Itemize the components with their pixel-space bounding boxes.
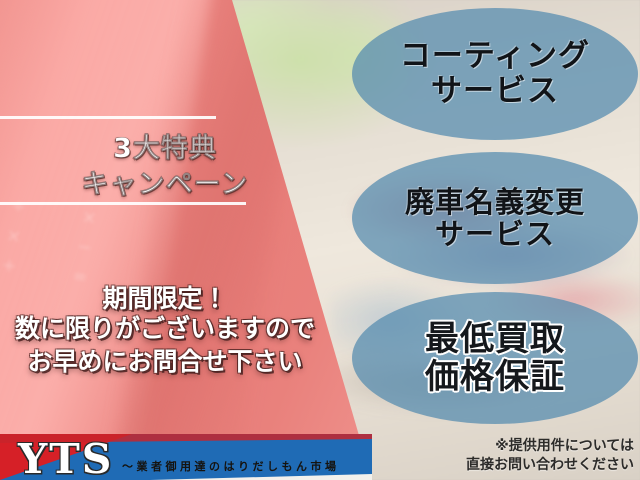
logo-bar: YTS 〜業者御用達のはりだしもん市場 [0,434,372,480]
headline-rule-top [0,116,216,119]
limited-time-line2: 数に限りがございますので [0,312,330,345]
advertisement-banner: ÷ × × − + = 3大特典 キャンペーン 期間限定！ 数に限りがございます… [0,0,640,480]
service-bubble-title-transfer: 廃車名義変更 サービス [352,152,638,284]
headline-rule-bottom [0,202,246,205]
service-label-line2: サービス [431,74,559,109]
limited-time-line3: お早めにお問合せ下さい [0,345,330,378]
service-label-line2: 価格保証 [425,358,565,396]
campaign-headline-line1: 3大特典 [0,126,330,165]
disclaimer-line2: 直接お問い合わせください [354,456,634,475]
limited-time-line1: 期間限定！ [0,282,330,315]
logo-wordmark: YTS [18,435,113,480]
service-bubble-price-guarantee: 最低買取 価格保証 [352,292,638,424]
service-label-line2: サービス [435,218,555,250]
logo-tagline: 〜業者御用達のはりだしもん市場 [122,458,340,474]
campaign-headline-line2: キャンペーン [0,162,330,201]
disclaimer-line1: ※提供用件については [354,437,634,456]
service-bubble-coating: コーティング サービス [352,8,638,140]
service-label-line1: コーティング [400,39,590,74]
service-label-line1: 廃車名義変更 [405,186,585,218]
service-label-line1: 最低買取 [425,320,565,358]
